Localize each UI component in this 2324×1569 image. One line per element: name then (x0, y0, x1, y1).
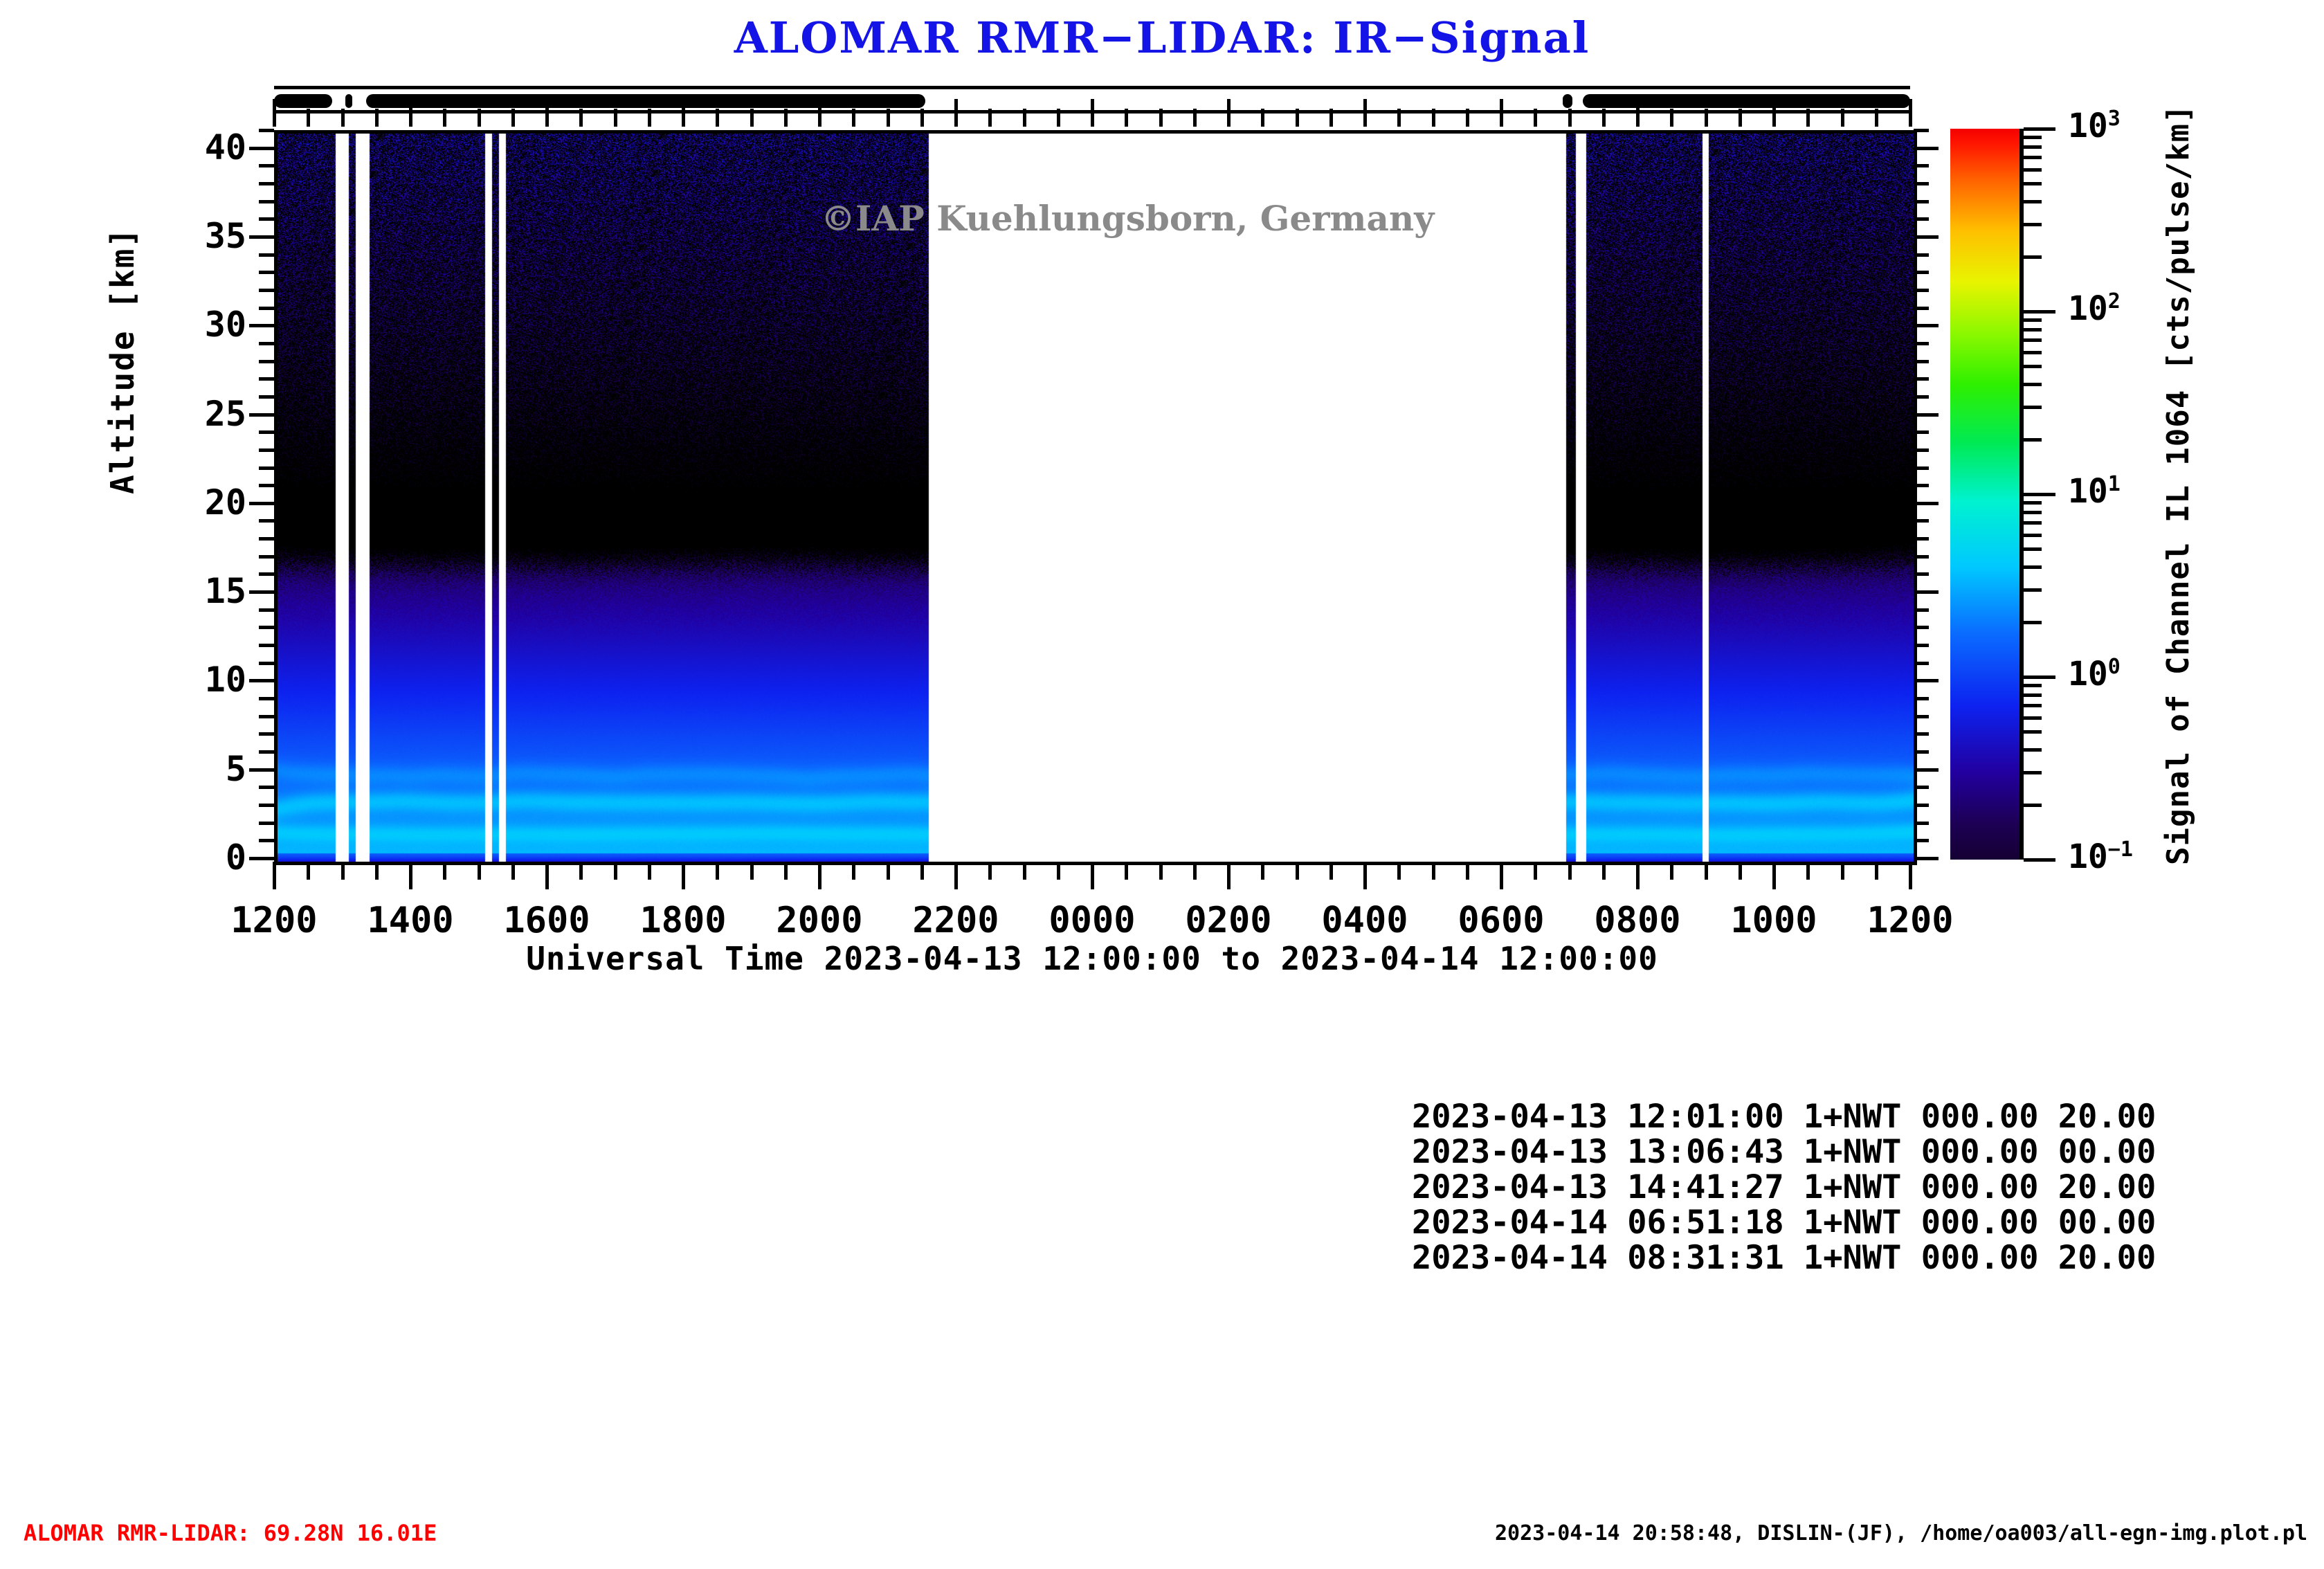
x-axis-tick (954, 862, 958, 889)
x-axis-tick (1432, 109, 1435, 127)
y-axis-tick (1914, 217, 1929, 221)
y-axis-tick (259, 519, 274, 523)
y-axis-tick (1914, 822, 1929, 825)
colorbar-minor-tick (2024, 748, 2042, 752)
x-axis-tick (920, 109, 924, 127)
x-axis-tick (545, 862, 549, 889)
availability-segment (274, 94, 332, 108)
y-axis-tick (1914, 519, 1929, 523)
y-axis-tick (1914, 839, 1929, 842)
y-axis-title: Altitude [km] (104, 227, 141, 494)
x-axis-tick (682, 99, 685, 127)
x-axis-tick (1261, 109, 1264, 127)
y-axis-tick-label: 30 (143, 307, 246, 342)
x-axis-tick (1636, 99, 1640, 127)
x-axis-tick (818, 99, 821, 127)
y-axis-tick (1914, 430, 1929, 434)
colorbar-minor-tick (2024, 621, 2042, 624)
y-axis-tick (1914, 732, 1929, 736)
x-axis-tick (1841, 109, 1844, 127)
station-footer: ALOMAR RMR-LIDAR: 69.28N 16.01E (24, 1520, 437, 1546)
y-axis-tick (1914, 804, 1929, 807)
x-axis-tick (1466, 109, 1469, 127)
x-axis-tick (1500, 99, 1503, 127)
colorbar (1950, 129, 2019, 860)
y-axis-tick (1914, 502, 1939, 505)
x-axis-tick (1534, 862, 1537, 880)
x-axis-tick (1057, 862, 1060, 880)
x-axis-tick (1772, 99, 1776, 127)
x-axis-tick (1739, 862, 1742, 880)
x-axis-tick (1841, 862, 1844, 880)
y-axis-tick (259, 377, 274, 381)
colorbar-tick-mantissa: 10 (2068, 837, 2108, 876)
x-axis-tick-label: 1000 (1698, 900, 1850, 941)
colorbar-major-tick (2024, 310, 2055, 314)
x-axis-tick (988, 862, 992, 880)
y-axis-tick (1914, 307, 1929, 310)
x-axis-tick (716, 109, 719, 127)
log-row: 2023-04-13 13:06:43 1+NWT 000.00 00.00 (1412, 1134, 2156, 1170)
colorbar-title: Signal of Channel IL 1064 [cts/pulse/km] (2161, 104, 2196, 865)
colorbar-tick-label: 103 (2068, 107, 2121, 145)
x-axis-tick-label: 0400 (1289, 900, 1441, 941)
x-axis-tick (1739, 109, 1742, 127)
x-axis-tick (818, 862, 821, 889)
colorbar-major-tick (2024, 493, 2055, 496)
y-axis-tick (259, 484, 274, 487)
x-axis-tick (1397, 862, 1401, 880)
colorbar-tick-exponent: 2 (2108, 289, 2121, 314)
y-axis-tick (249, 768, 274, 772)
x-axis-tick (1602, 862, 1606, 880)
x-axis-tick (1466, 862, 1469, 880)
availability-segment (1563, 94, 1573, 108)
y-axis-tick (249, 147, 274, 150)
colorbar-minor-tick (2024, 693, 2042, 697)
y-axis-tick (1914, 200, 1929, 203)
x-axis-tick (273, 862, 276, 889)
y-axis-tick (1914, 413, 1939, 417)
y-axis-tick (1914, 324, 1939, 327)
y-axis-tick (259, 466, 274, 470)
x-axis-tick (852, 109, 855, 127)
x-axis-tick (1500, 862, 1503, 889)
y-axis-tick (1914, 147, 1939, 150)
y-axis-tick (259, 395, 274, 399)
y-axis-tick (259, 217, 274, 221)
colorbar-minor-tick (2024, 338, 2042, 342)
colorbar-minor-tick (2024, 534, 2042, 537)
x-axis-tick (1193, 862, 1197, 880)
x-axis-tick-label: 1200 (198, 900, 350, 941)
colorbar-major-tick (2024, 675, 2055, 679)
x-axis-tick (784, 862, 788, 880)
y-axis-tick (259, 626, 274, 629)
y-axis-tick (259, 200, 274, 203)
page-title: ALOMAR RMR−LIDAR: IR−Signal (0, 12, 2324, 63)
log-row: 2023-04-13 14:41:27 1+NWT 000.00 20.00 (1412, 1170, 2156, 1205)
y-axis-tick (259, 572, 274, 576)
x-axis-tick (1125, 109, 1128, 127)
colorbar-minor-tick (2024, 145, 2042, 149)
x-axis-tick (1329, 862, 1333, 880)
y-axis-tick (249, 235, 274, 239)
colorbar-minor-tick (2024, 365, 2042, 368)
y-axis-tick-label: 40 (143, 130, 246, 165)
x-axis-tick (1363, 862, 1367, 889)
x-axis-tick (614, 862, 617, 880)
x-axis-tick (341, 109, 345, 127)
x-axis-tick (784, 109, 788, 127)
y-axis-tick-label: 25 (143, 397, 246, 431)
y-axis-tick (1914, 253, 1929, 257)
x-axis-tick (273, 99, 276, 127)
colorbar-minor-tick (2024, 318, 2042, 322)
x-axis-tick (1159, 862, 1163, 880)
x-axis-tick (1125, 862, 1128, 880)
x-axis-tick (1875, 862, 1878, 880)
colorbar-tick-label: 101 (2068, 472, 2121, 511)
x-axis-tick-label: 1200 (1834, 900, 1986, 941)
y-axis-tick (249, 679, 274, 682)
colorbar-minor-tick (2024, 438, 2042, 442)
y-axis-tick (1914, 484, 1929, 487)
y-axis-tick (259, 253, 274, 257)
colorbar-tick-mantissa: 10 (2068, 472, 2108, 511)
y-axis-tick-label: 20 (143, 485, 246, 520)
y-axis-tick (1914, 235, 1939, 239)
x-axis-tick (478, 862, 481, 880)
colorbar-tick-exponent: −1 (2108, 837, 2133, 862)
x-axis-tick (614, 109, 617, 127)
y-axis-tick (1914, 164, 1929, 167)
y-axis-tick (249, 857, 274, 860)
y-axis-tick (1914, 289, 1929, 292)
colorbar-minor-tick (2024, 200, 2042, 203)
y-axis-tick (259, 537, 274, 541)
y-axis-tick (259, 342, 274, 345)
y-axis-tick (1914, 644, 1929, 647)
x-axis-tick (1296, 862, 1299, 880)
y-axis-tick (259, 750, 274, 754)
y-axis-tick (1914, 626, 1929, 629)
y-axis-tick (249, 413, 274, 417)
y-axis-tick (1914, 271, 1929, 274)
x-axis-tick (1023, 862, 1026, 880)
y-axis-tick (259, 129, 274, 132)
x-axis-tick (545, 99, 549, 127)
x-axis-tick (1534, 109, 1537, 127)
x-axis-tick (1568, 109, 1572, 127)
colorbar-minor-tick (2024, 730, 2042, 734)
x-axis-tick (852, 862, 855, 880)
y-axis-tick (259, 430, 274, 434)
y-axis-tick-label: 5 (143, 752, 246, 786)
colorbar-minor-tick (2024, 156, 2042, 159)
x-axis-tick-label: 0600 (1425, 900, 1577, 941)
colorbar-minor-tick (2024, 521, 2042, 525)
y-axis-tick (1914, 768, 1939, 772)
y-axis-tick-label: 35 (143, 219, 246, 253)
x-axis-tick (579, 109, 583, 127)
x-axis-tick (375, 109, 379, 127)
colorbar-minor-tick (2024, 565, 2042, 569)
log-row: 2023-04-14 06:51:18 1+NWT 000.00 00.00 (1412, 1205, 2156, 1240)
colorbar-minor-tick (2024, 223, 2042, 226)
x-axis-tick-label: 1400 (334, 900, 487, 941)
x-axis-tick (443, 109, 446, 127)
x-axis-tick (920, 862, 924, 880)
x-axis-tick (1227, 99, 1231, 127)
x-axis-tick (341, 862, 345, 880)
log-row: 2023-04-14 08:31:31 1+NWT 000.00 20.00 (1412, 1240, 2156, 1276)
y-axis-tick (259, 448, 274, 452)
y-axis-tick (259, 732, 274, 736)
x-axis-tick (307, 862, 310, 880)
x-axis-tick (511, 109, 515, 127)
colorbar-minor-tick (2024, 684, 2042, 687)
colorbar-tick-label: 102 (2068, 289, 2121, 328)
y-axis-tick (259, 786, 274, 789)
x-axis-tick-label: 0000 (1016, 900, 1168, 941)
x-axis-tick (1705, 862, 1708, 880)
x-axis-tick (1806, 862, 1810, 880)
x-axis-tick-label: 0800 (1561, 900, 1714, 941)
y-axis-tick-label: 0 (143, 840, 246, 875)
colorbar-tick-label: 100 (2068, 655, 2121, 693)
y-axis-tick (1914, 750, 1929, 754)
y-axis-tick (1914, 395, 1929, 399)
colorbar-tick-label: 10−1 (2068, 837, 2133, 876)
x-axis-tick (716, 862, 719, 880)
x-axis-tick (1568, 862, 1572, 880)
x-axis-title: Universal Time 2023-04-13 12:00:00 to 20… (274, 940, 1910, 977)
y-axis-tick (1914, 342, 1929, 345)
y-axis-tick (259, 839, 274, 842)
colorbar-minor-tick (2024, 168, 2042, 172)
colorbar-tick-exponent: 0 (2108, 655, 2121, 679)
y-axis-tick (1914, 679, 1939, 682)
x-axis-tick (954, 99, 958, 127)
y-axis-tick (1914, 537, 1929, 541)
y-axis-tick (259, 182, 274, 185)
x-axis-tick (409, 862, 412, 889)
colorbar-minor-tick (2024, 771, 2042, 774)
y-axis-tick-label: 10 (143, 662, 246, 697)
colorbar-minor-tick (2024, 804, 2042, 807)
y-axis-tick (259, 164, 274, 167)
x-axis-tick (375, 862, 379, 880)
x-axis-tick (682, 862, 685, 889)
colorbar-major-tick (2024, 127, 2055, 131)
y-axis-tick (259, 662, 274, 665)
colorbar-tick-exponent: 1 (2108, 472, 2121, 496)
colorbar-minor-tick (2024, 704, 2042, 707)
x-axis-tick (1091, 99, 1094, 127)
colorbar-minor-tick (2024, 136, 2042, 139)
y-axis-tick (1914, 786, 1929, 789)
y-axis-tick (1914, 466, 1929, 470)
x-axis-tick (887, 109, 890, 127)
y-axis-tick (1914, 608, 1929, 612)
y-axis-tick (249, 502, 274, 505)
y-axis-tick (259, 608, 274, 612)
x-axis-tick (1296, 109, 1299, 127)
x-axis-tick-label: 1600 (471, 900, 623, 941)
y-axis-tick (249, 590, 274, 594)
x-axis-tick-label: 2000 (743, 900, 896, 941)
generation-footer: 2023-04-14 20:58:48, DISLIN-(JF), /home/… (1495, 1521, 2307, 1545)
colorbar-minor-tick (2024, 406, 2042, 409)
y-axis-tick (1914, 377, 1929, 381)
colorbar-minor-tick (2024, 328, 2042, 332)
log-row: 2023-04-13 12:01:00 1+NWT 000.00 20.00 (1412, 1099, 2156, 1134)
y-axis-tick (259, 804, 274, 807)
x-axis-tick (1261, 862, 1264, 880)
x-axis-tick (511, 862, 515, 880)
y-axis-tick (1914, 857, 1939, 860)
y-axis-tick (259, 271, 274, 274)
colorbar-tick-mantissa: 10 (2068, 107, 2108, 145)
y-axis-tick (1914, 182, 1929, 185)
colorbar-minor-tick (2024, 182, 2042, 185)
x-axis-tick (1329, 109, 1333, 127)
y-axis-tick (259, 555, 274, 559)
x-axis-tick (1705, 109, 1708, 127)
colorbar-minor-tick (2024, 716, 2042, 720)
y-axis-tick-label: 15 (143, 574, 246, 608)
x-axis-tick (1806, 109, 1810, 127)
colorbar-minor-tick (2024, 501, 2042, 505)
x-axis-tick-label: 2200 (880, 900, 1032, 941)
x-axis-tick (1227, 862, 1231, 889)
y-axis-tick (259, 644, 274, 647)
y-axis-tick (1914, 360, 1929, 363)
availability-segment (1583, 94, 1910, 108)
y-axis-tick (1914, 715, 1929, 718)
y-axis-tick (259, 715, 274, 718)
heatmap-canvas (278, 134, 1914, 862)
x-axis-tick (1397, 109, 1401, 127)
y-axis-tick (1914, 129, 1929, 132)
colorbar-minor-tick (2024, 588, 2042, 592)
x-axis-tick (1057, 109, 1060, 127)
x-axis-tick (1772, 862, 1776, 889)
x-axis-tick (648, 862, 651, 880)
y-axis-tick (1914, 448, 1929, 452)
x-axis-tick (988, 109, 992, 127)
colorbar-minor-tick (2024, 547, 2042, 551)
x-axis-tick (750, 109, 754, 127)
colorbar-minor-tick (2024, 351, 2042, 354)
x-axis-tick (409, 99, 412, 127)
y-axis-tick (1914, 662, 1929, 665)
x-axis-tick (1193, 109, 1197, 127)
x-axis-tick (1023, 109, 1026, 127)
x-axis-tick (1159, 109, 1163, 127)
x-axis-tick (579, 862, 583, 880)
colorbar-tick-exponent: 3 (2108, 107, 2121, 131)
x-axis-tick (648, 109, 651, 127)
lidar-heatmap-plot (274, 130, 1917, 865)
x-axis-tick (1602, 109, 1606, 127)
x-axis-tick (1909, 99, 1912, 127)
y-axis-tick (249, 324, 274, 327)
y-axis-tick (259, 307, 274, 310)
x-axis-tick-label: 0200 (1152, 900, 1305, 941)
y-axis-tick (1914, 590, 1939, 594)
y-axis-tick (259, 360, 274, 363)
x-axis-tick-label: 1800 (607, 900, 759, 941)
availability-segment (345, 94, 352, 108)
y-axis-tick (1914, 697, 1929, 700)
x-axis-tick (1909, 862, 1912, 889)
x-axis-tick (478, 109, 481, 127)
x-axis-tick (1670, 862, 1673, 880)
measurement-log-table: 2023-04-13 12:01:00 1+NWT 000.00 20.0020… (1412, 1099, 2156, 1276)
colorbar-minor-tick (2024, 383, 2042, 386)
y-axis-tick (259, 697, 274, 700)
x-axis-tick (1091, 862, 1094, 889)
colorbar-major-tick (2024, 858, 2055, 862)
y-axis-tick (1914, 555, 1929, 559)
x-axis-tick (1363, 99, 1367, 127)
x-axis-tick (750, 862, 754, 880)
colorbar-minor-tick (2024, 511, 2042, 514)
y-axis-tick (259, 289, 274, 292)
availability-segment (366, 94, 925, 108)
colorbar-minor-tick (2024, 255, 2042, 259)
colorbar-gradient (1950, 129, 2019, 860)
x-axis-tick (1875, 109, 1878, 127)
x-axis-tick (1636, 862, 1640, 889)
x-axis-tick (887, 862, 890, 880)
x-axis-tick (1432, 862, 1435, 880)
x-axis-tick (307, 109, 310, 127)
y-axis-tick (1914, 572, 1929, 576)
y-axis-tick (259, 822, 274, 825)
x-axis-tick (443, 862, 446, 880)
colorbar-tick-mantissa: 10 (2068, 289, 2108, 328)
colorbar-tick-mantissa: 10 (2068, 655, 2108, 693)
x-axis-tick (1670, 109, 1673, 127)
